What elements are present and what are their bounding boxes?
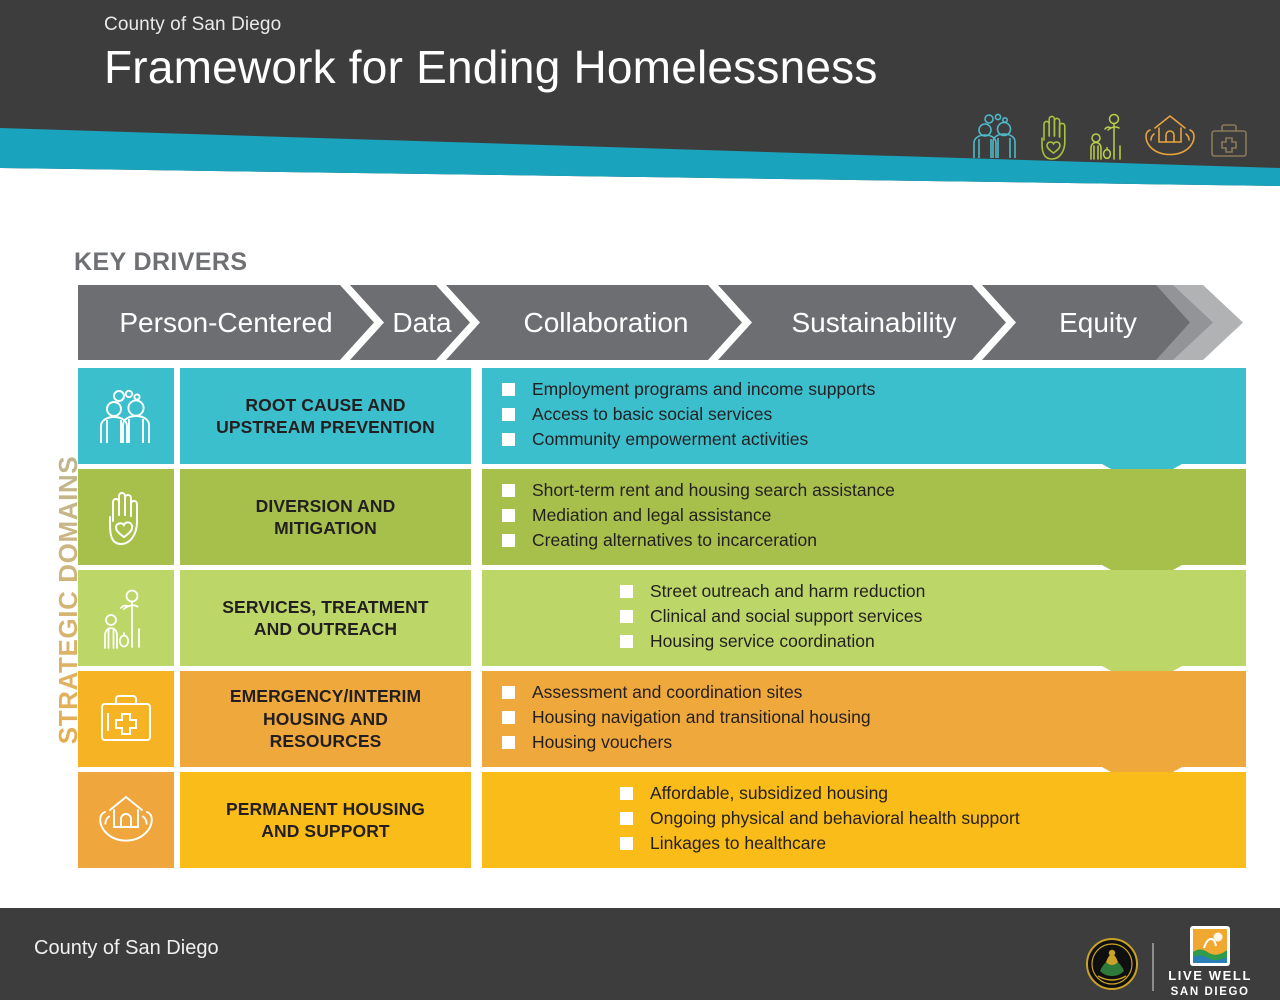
domain-row-root-cause: ROOT CAUSE ANDUPSTREAM PREVENTION Employ… [0,368,1280,464]
key-driver-sustainability[interactable]: Sustainability [742,285,1006,360]
bullets-list: Employment programs and income supports … [502,379,1238,454]
slide-footer: County of San Diego [0,908,1280,1000]
domain-label-emergency: EMERGENCY/INTERIMHOUSING ANDRESOURCES [180,671,471,767]
list-item: Community empowerment activities [502,429,1238,454]
hands-house-icon [1142,112,1198,160]
list-item: Assessment and coordination sites [502,682,1238,707]
medical-kit-icon [1208,120,1250,160]
domain-row-permanent: PERMANENT HOUSINGAND SUPPORT Affordable,… [0,772,1280,868]
domain-label-permanent: PERMANENT HOUSINGAND SUPPORT [180,772,471,868]
bullet-square-icon [620,635,633,648]
bullet-square-icon [502,534,515,547]
bullet-square-icon [502,484,515,497]
key-driver-person-centered[interactable]: Person-Centered [78,285,374,360]
bullets-list: Street outreach and harm reduction Clini… [620,581,1238,656]
strategic-domains-matrix: ROOT CAUSE ANDUPSTREAM PREVENTION Employ… [0,368,1280,868]
bullet-square-icon [502,736,515,749]
domain-row-services: SERVICES, TREATMENTAND OUTREACH Street o… [0,570,1280,666]
footer-label: County of San Diego [34,937,219,960]
bullet-square-icon [502,509,515,522]
key-driver-data[interactable]: Data [374,285,470,360]
header-icon-strip [968,112,1250,160]
header-eyebrow: County of San Diego [104,14,281,36]
key-driver-collaboration[interactable]: Collaboration [470,285,742,360]
key-driver-equity[interactable]: Equity [1006,285,1190,360]
domain-icon-emergency [78,671,174,767]
list-item: Ongoing physical and behavioral health s… [620,808,1238,833]
domain-bullets-emergency: Assessment and coordination sites Housin… [482,671,1246,767]
bullet-square-icon [620,585,633,598]
bullet-square-icon [620,787,633,800]
county-seal-icon [1086,938,1138,995]
domain-label-diversion: DIVERSION ANDMITIGATION [180,469,471,565]
key-drivers-labels: Person-Centered Data Collaboration Susta… [78,285,1246,360]
list-item: Affordable, subsidized housing [620,783,1238,808]
bullet-square-icon [620,812,633,825]
list-item: Linkages to healthcare [620,833,1238,858]
key-drivers-chevron-bar: Person-Centered Data Collaboration Susta… [78,285,1246,360]
logo-divider [1152,943,1154,991]
slide: County of San Diego Framework for Ending… [0,0,1280,1000]
bullet-square-icon [502,711,515,724]
bullet-square-icon [502,686,515,699]
domain-bullets-permanent: Affordable, subsidized housing Ongoing p… [482,772,1246,868]
bullet-square-icon [620,610,633,623]
list-item: Clinical and social support services [620,606,1238,631]
domain-icon-root-cause [78,368,174,464]
footer-logo-group: LIVE WELL SAN DIEGO LIVEWELLSD.ORG [1086,926,1252,1000]
list-item: Creating alternatives to incarceration [502,530,1238,555]
list-item: Street outreach and harm reduction [620,581,1238,606]
list-item: Housing vouchers [502,732,1238,757]
domain-icon-diversion [78,469,174,565]
list-item: Housing navigation and transitional hous… [502,707,1238,732]
domain-bullets-root-cause: Employment programs and income supports … [482,368,1246,464]
live-well-mark-icon [1190,926,1230,966]
live-well-san-diego-logo: LIVE WELL SAN DIEGO LIVEWELLSD.ORG [1168,926,1252,1000]
bullet-square-icon [502,433,515,446]
family-services-icon [1084,112,1132,160]
slide-header: County of San Diego Framework for Ending… [0,0,1280,190]
list-item: Short-term rent and housing search assis… [502,480,1238,505]
bullet-square-icon [502,408,515,421]
list-item: Mediation and legal assistance [502,505,1238,530]
hand-heart-icon [1034,112,1074,160]
key-drivers-heading: KEY DRIVERS [74,248,247,277]
domain-icon-permanent [78,772,174,868]
live-well-line1: LIVE WELL [1168,969,1252,983]
domain-bullets-services: Street outreach and harm reduction Clini… [482,570,1246,666]
domain-bullets-diversion: Short-term rent and housing search assis… [482,469,1246,565]
bullet-square-icon [620,837,633,850]
domain-row-diversion: DIVERSION ANDMITIGATION Short-term rent … [0,469,1280,565]
list-item: Access to basic social services [502,404,1238,429]
domain-row-emergency: EMERGENCY/INTERIMHOUSING ANDRESOURCES As… [0,671,1280,767]
bullets-list: Assessment and coordination sites Housin… [502,682,1238,757]
live-well-line2: SAN DIEGO [1171,986,1250,998]
domain-icon-services [78,570,174,666]
group-people-icon [968,112,1024,160]
bullets-list: Short-term rent and housing search assis… [502,480,1238,555]
bullet-square-icon [502,383,515,396]
bullets-list: Affordable, subsidized housing Ongoing p… [620,783,1238,858]
list-item: Housing service coordination [620,631,1238,656]
list-item: Employment programs and income supports [502,379,1238,404]
page-title: Framework for Ending Homelessness [104,40,878,94]
domain-label-root-cause: ROOT CAUSE ANDUPSTREAM PREVENTION [180,368,471,464]
domain-label-services: SERVICES, TREATMENTAND OUTREACH [180,570,471,666]
